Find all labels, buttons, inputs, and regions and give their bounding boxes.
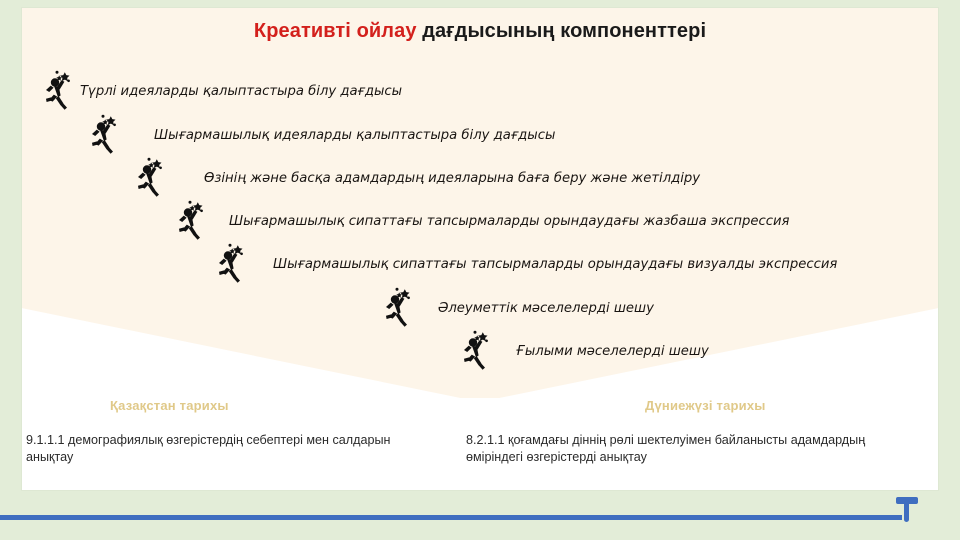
footer-heading-kazakhstan: Қазақстан тарихы bbox=[110, 398, 229, 413]
blue-accent-rule bbox=[0, 515, 902, 520]
list-item: Түрлі идеяларды қалыптастыра білу дағдыс… bbox=[42, 68, 402, 116]
running-figure-reaching-stars-icon bbox=[382, 285, 416, 333]
list-item-label: Өзінің және басқа адамдардың идеяларына … bbox=[204, 172, 700, 187]
running-figure-reaching-stars-icon bbox=[175, 198, 209, 246]
running-figure-reaching-stars-icon bbox=[42, 68, 76, 116]
list-item-label: Шығармашылық сипаттағы тапсырмаларды оры… bbox=[229, 215, 789, 230]
list-item: Өзінің және басқа адамдардың идеяларына … bbox=[134, 155, 700, 203]
footer-body-world: 8.2.1.1 қоғамдағы діннің рөлі шектелуіме… bbox=[466, 432, 922, 467]
blue-hook-accent bbox=[896, 497, 918, 521]
list-item-label: Ғылыми мәселелерді шешу bbox=[516, 345, 709, 360]
running-figure-reaching-stars-icon bbox=[134, 155, 168, 203]
footer-body-kazakhstan: 9.1.1.1 демографиялық өзгерістердің себе… bbox=[26, 432, 426, 467]
list-item-label: Шығармашылық идеяларды қалыптастыра білу… bbox=[154, 129, 555, 144]
slide-outer-frame: Креативті ойлау дағдысының компоненттері bbox=[0, 0, 960, 540]
component-list: Түрлі идеяларды қалыптастыра білу дағдыс… bbox=[0, 0, 960, 400]
list-item: Шығармашылық идеяларды қалыптастыра білу… bbox=[88, 112, 555, 160]
running-figure-reaching-stars-icon bbox=[215, 241, 249, 289]
footer-heading-world: Дүниежүзі тарихы bbox=[645, 398, 766, 413]
list-item-label: Әлеуметтік мәселелерді шешу bbox=[438, 302, 654, 317]
list-item: Шығармашылық сипаттағы тапсырмаларды оры… bbox=[175, 198, 789, 246]
list-item: Әлеуметтік мәселелерді шешу bbox=[382, 285, 654, 333]
blue-hook-stem bbox=[904, 501, 909, 522]
blue-hook-cap bbox=[896, 497, 918, 504]
list-item-label: Шығармашылық сипаттағы тапсырмаларды оры… bbox=[273, 258, 837, 273]
list-item: Шығармашылық сипаттағы тапсырмаларды оры… bbox=[215, 241, 837, 289]
running-figure-reaching-stars-icon bbox=[460, 328, 494, 376]
list-item: Ғылыми мәселелерді шешу bbox=[460, 328, 709, 376]
running-figure-reaching-stars-icon bbox=[88, 112, 122, 160]
list-item-label: Түрлі идеяларды қалыптастыра білу дағдыс… bbox=[80, 85, 402, 100]
